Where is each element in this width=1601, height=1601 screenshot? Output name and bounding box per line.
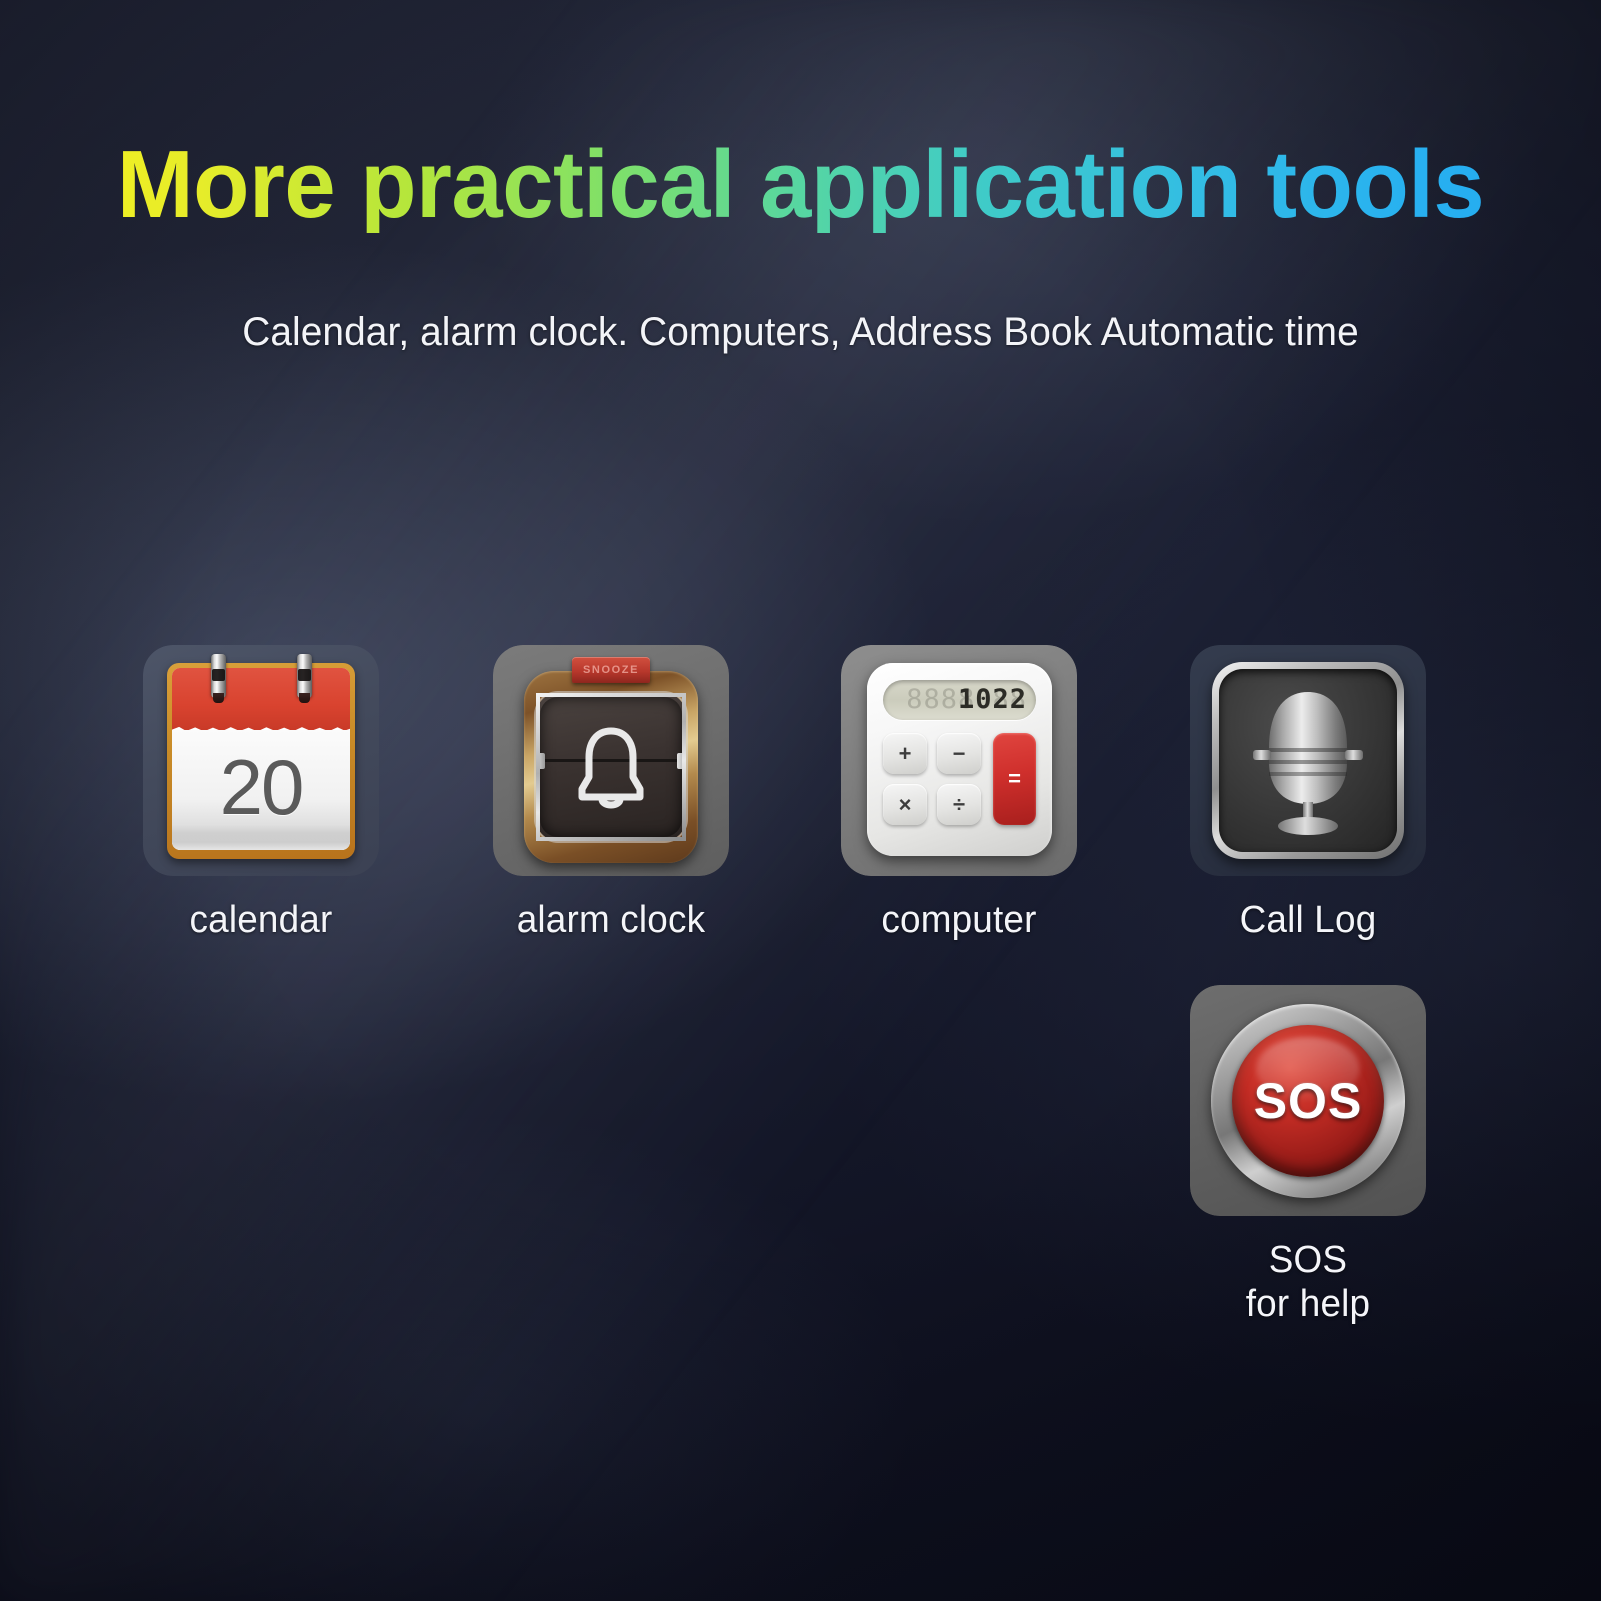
app-grid: 20 calendar SNOOZE	[143, 645, 1433, 1325]
calendar-tile[interactable]: 20	[143, 645, 379, 876]
app-label-sos: SOS for help	[1194, 1238, 1423, 1326]
app-label-sos-line2: for help	[1194, 1282, 1423, 1326]
alarm-clock-icon: SNOOZE	[516, 657, 706, 865]
bell-icon	[574, 723, 648, 811]
calendar-icon: 20	[167, 663, 355, 859]
calendar-page: 20	[172, 668, 350, 850]
alarm-clock-case	[524, 671, 698, 863]
microphone-frame	[1212, 662, 1404, 859]
app-item-computer[interactable]: 8888888 1022 + − × ÷ = computer	[841, 645, 1077, 942]
promo-slide: More practical application tools Calenda…	[0, 0, 1601, 1601]
calendar-ring-right	[297, 654, 312, 698]
app-label-sos-line1: SOS	[1194, 1238, 1423, 1282]
app-row-1: 20 calendar SNOOZE	[143, 645, 1433, 985]
app-item-calendar[interactable]: 20 calendar	[143, 645, 379, 942]
microphone-icon	[1249, 686, 1367, 836]
sos-button-text: SOS	[1254, 1072, 1363, 1130]
alarm-clock-nub-left	[536, 753, 545, 769]
calendar-frame: 20	[167, 663, 355, 859]
calculator-key-plus[interactable]: +	[883, 733, 927, 774]
page-title: More practical application tools	[32, 137, 1569, 233]
app-item-alarm-clock[interactable]: SNOOZE	[493, 645, 729, 942]
calendar-day-number: 20	[172, 742, 350, 833]
app-row-2: SOS SOS for help	[143, 985, 1433, 1325]
microphone-face	[1219, 669, 1397, 852]
calendar-header-band	[172, 668, 350, 730]
calendar-ring-left	[211, 654, 226, 698]
alarm-clock-tile[interactable]: SNOOZE	[493, 645, 729, 876]
sos-tile[interactable]: SOS	[1190, 985, 1426, 1216]
alarm-clock-nub-right	[677, 753, 686, 769]
app-item-sos[interactable]: SOS SOS for help	[1190, 985, 1426, 1326]
sos-button-icon[interactable]: SOS	[1232, 1025, 1384, 1177]
page-subtitle: Calendar, alarm clock. Computers, Addres…	[24, 310, 1577, 355]
calculator-display-value: 1022	[958, 680, 1027, 720]
snooze-label: SNOOZE	[572, 657, 650, 683]
app-label-call-log: Call Log	[1194, 898, 1423, 942]
app-item-call-log[interactable]: Call Log	[1190, 645, 1426, 942]
calculator-key-equals[interactable]: =	[993, 733, 1036, 825]
calculator-key-divide[interactable]: ÷	[937, 784, 981, 825]
calculator-keypad: + − × ÷ =	[883, 733, 1036, 825]
calculator-key-minus[interactable]: −	[937, 733, 981, 774]
call-log-tile[interactable]	[1190, 645, 1426, 876]
app-label-computer: computer	[845, 898, 1074, 942]
sos-ring: SOS	[1211, 1004, 1405, 1198]
app-label-calendar: calendar	[147, 898, 376, 942]
snooze-bar: SNOOZE	[572, 657, 650, 683]
calculator-display: 8888888 1022	[883, 680, 1036, 720]
calculator-key-multiply[interactable]: ×	[883, 784, 927, 825]
alarm-clock-face	[536, 693, 686, 841]
computer-tile[interactable]: 8888888 1022 + − × ÷ =	[841, 645, 1077, 876]
app-label-alarm-clock: alarm clock	[497, 898, 726, 942]
calculator-icon: 8888888 1022 + − × ÷ =	[867, 663, 1052, 856]
